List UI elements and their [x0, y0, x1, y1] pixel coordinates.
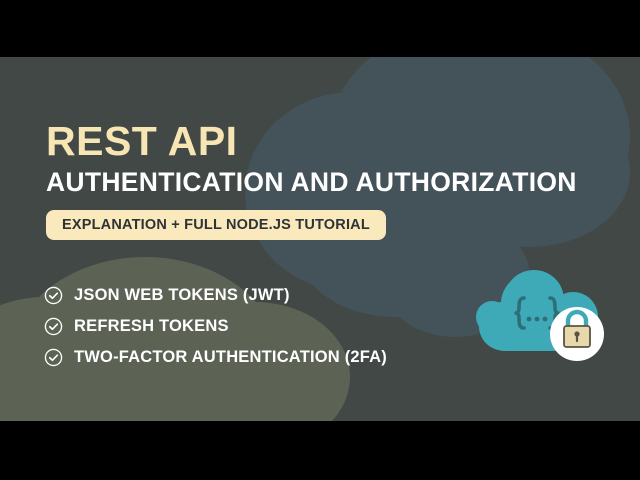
list-item: REFRESH TOKENS	[44, 311, 387, 342]
thumbnail-content: REST API AUTHENTICATION AND AUTHORIZATIO…	[0, 57, 640, 421]
check-circle-icon	[44, 348, 63, 367]
check-circle-icon	[44, 317, 63, 336]
letterbox-bottom	[0, 421, 640, 480]
check-circle-icon	[44, 286, 63, 305]
letterbox-top	[0, 0, 640, 57]
list-item-label: TWO-FACTOR AUTHENTICATION (2FA)	[74, 348, 387, 367]
status-badge-label: EXPLANATION + FULL NODE.JS TUTORIAL	[62, 217, 370, 233]
page-title: REST API	[46, 121, 238, 162]
code-ellipsis-glyph	[527, 317, 548, 322]
page-subtitle: AUTHENTICATION AND AUTHORIZATION	[46, 169, 577, 196]
thumbnail-stage: REST API AUTHENTICATION AND AUTHORIZATIO…	[0, 57, 640, 421]
list-item: JSON WEB TOKENS (JWT)	[44, 280, 387, 311]
list-item-label: REFRESH TOKENS	[74, 317, 229, 336]
padlock-badge	[550, 307, 604, 361]
list-item: TWO-FACTOR AUTHENTICATION (2FA)	[44, 342, 387, 373]
status-badge: EXPLANATION + FULL NODE.JS TUTORIAL	[46, 210, 386, 240]
list-item-label: JSON WEB TOKENS (JWT)	[74, 286, 290, 305]
feature-list: JSON WEB TOKENS (JWT) REFRESH TOKENS	[44, 280, 387, 373]
cloud-security-illustration	[472, 255, 614, 365]
thumbnail-canvas: REST API AUTHENTICATION AND AUTHORIZATIO…	[0, 0, 640, 480]
